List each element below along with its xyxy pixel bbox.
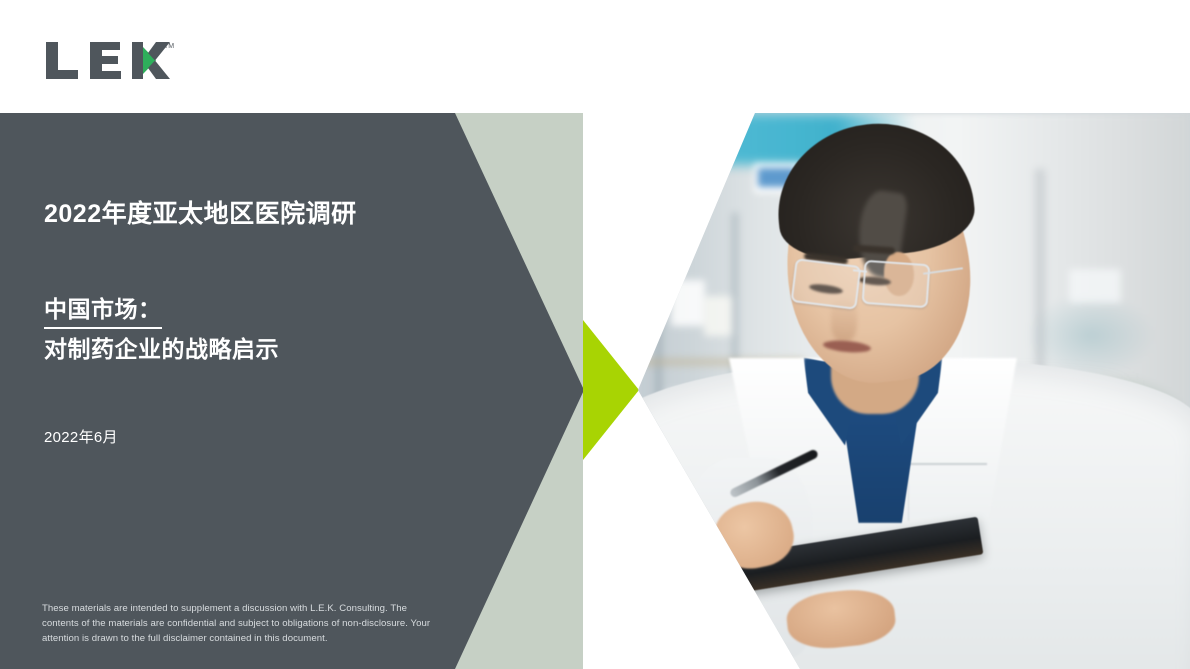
header-band: TM	[0, 0, 1190, 113]
lime-accent-triangle	[583, 320, 639, 460]
coat-pocket	[908, 463, 987, 521]
lens	[791, 258, 862, 310]
slide-body: 2022年度亚太地区医院调研 中国市场： 对制药企业的战略启示 2022年6月 …	[0, 113, 1190, 669]
title-slide: TM	[0, 0, 1190, 669]
eyeglasses	[787, 258, 967, 314]
page-title: 2022年度亚太地区医院调研	[44, 198, 444, 231]
pharmacist-figure	[638, 113, 1190, 669]
subtitle-line-2: 对制药企业的战略启示	[44, 333, 444, 366]
lek-logo: TM	[44, 36, 174, 82]
hero-photo	[638, 113, 1190, 669]
subtitle-line-1: 中国市场：	[44, 293, 162, 329]
title-text-block: 2022年度亚太地区医院调研 中国市场： 对制药企业的战略启示 2022年6月	[44, 198, 444, 447]
disclaimer: These materials are intended to suppleme…	[42, 602, 442, 647]
lens	[862, 259, 931, 307]
disclaimer-text: These materials are intended to suppleme…	[42, 602, 442, 647]
page-subtitle: 中国市场： 对制药企业的战略启示	[44, 293, 444, 367]
trademark-mark: TM	[164, 43, 174, 50]
shelf-upright	[655, 258, 662, 669]
publication-date: 2022年6月	[44, 426, 444, 447]
